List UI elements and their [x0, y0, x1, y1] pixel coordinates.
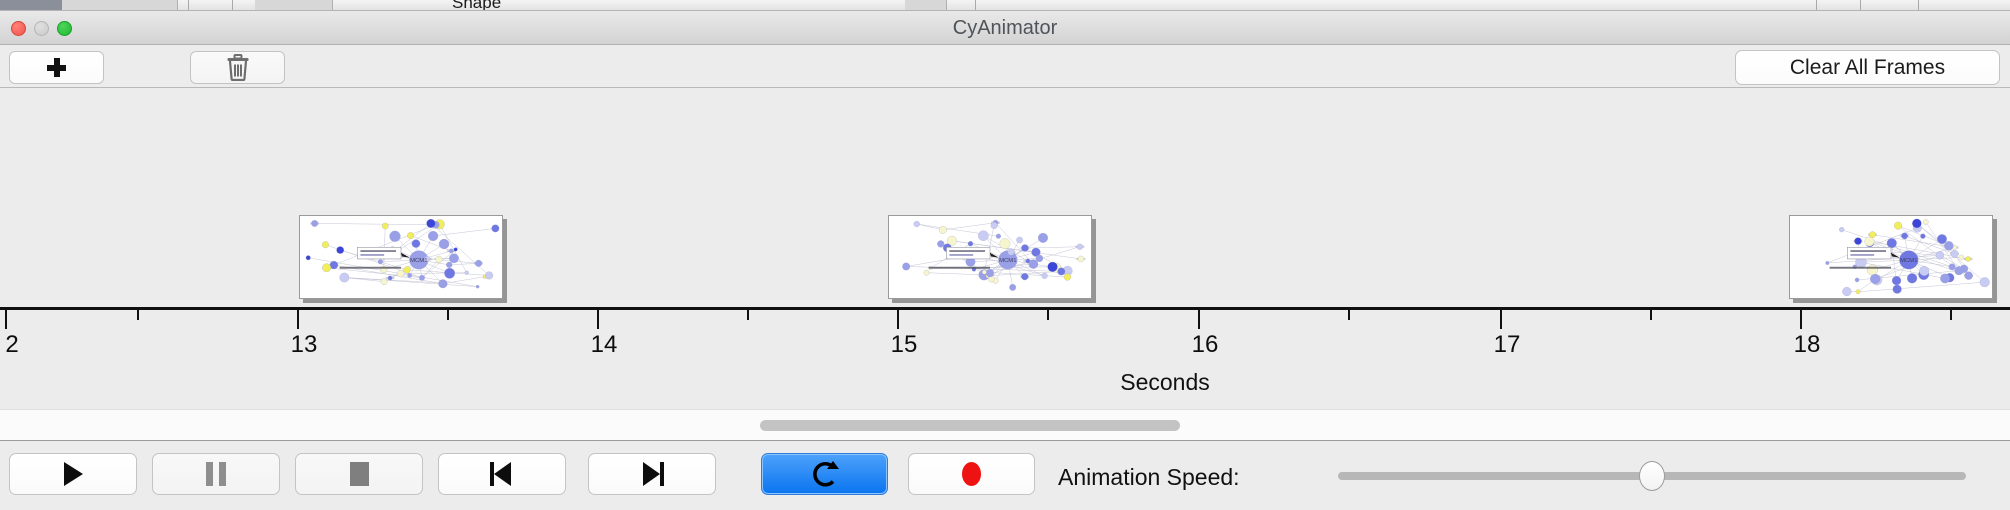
hub-node-label: MCM1: [410, 258, 427, 264]
background-window-tick: [975, 0, 976, 11]
timeline-minor-tick: [1348, 310, 1350, 320]
frame-thumbnail-3[interactable]: MCM1: [1789, 215, 1993, 299]
axis-title-label: Seconds: [1120, 369, 1210, 395]
background-window-chip: [255, 0, 333, 11]
network-graph: MCM1: [1790, 216, 1992, 298]
record-icon: [962, 462, 981, 486]
clear-all-frames-button[interactable]: Clear All Frames: [1735, 50, 2000, 85]
background-window-chip: [905, 0, 947, 11]
timeline-tick-label: 18: [1794, 331, 1821, 359]
pause-button[interactable]: [152, 453, 280, 495]
animation-speed-slider[interactable]: [1338, 472, 1966, 480]
hub-node-label: MCM1: [1900, 258, 1917, 264]
next-frame-button[interactable]: [588, 453, 716, 495]
pause-icon: [206, 462, 226, 486]
playback-control-bar: Animation Speed:: [0, 441, 2010, 510]
background-window-strip: Shape: [0, 0, 2010, 11]
cyanimator-window: Shape CyAnimator: [0, 0, 2010, 510]
timeline-tick-label: 15: [891, 331, 918, 359]
skip-back-icon: [489, 462, 515, 486]
background-window-tick: [188, 0, 189, 11]
timeline-major-tick: [897, 310, 899, 329]
stop-button[interactable]: [295, 453, 423, 495]
plus-icon: [47, 58, 66, 77]
network-graph: MCM1: [889, 216, 1091, 298]
animation-speed-slider-thumb[interactable]: [1639, 461, 1665, 491]
timeline-major-tick: [1500, 310, 1502, 329]
title-bar: CyAnimator: [0, 11, 2010, 45]
timeline-minor-tick: [1950, 310, 1952, 320]
timeline-panel[interactable]: MCM1 MCM1 MCM1 2131415161718 Seconds: [0, 88, 2010, 409]
play-icon: [64, 462, 83, 486]
timeline-major-tick: [1198, 310, 1200, 329]
frame-toolbar: Clear All Frames: [0, 45, 2010, 88]
trash-icon: [226, 54, 250, 81]
window-title: CyAnimator: [0, 11, 2010, 45]
background-window-tick: [232, 0, 233, 11]
timeline-scrollbar-thumb[interactable]: [760, 420, 1180, 431]
hub-node-label: MCM1: [999, 258, 1016, 264]
skip-forward-icon: [639, 462, 665, 486]
timeline-minor-tick: [1650, 310, 1652, 320]
add-frame-button[interactable]: [9, 51, 104, 84]
record-button[interactable]: [908, 453, 1035, 495]
background-window-tick: [1860, 0, 1861, 11]
axis-title: Seconds: [0, 369, 2010, 396]
previous-frame-button[interactable]: [438, 453, 566, 495]
loop-button[interactable]: [761, 453, 888, 495]
timeline-minor-tick: [447, 310, 449, 320]
timeline-minor-tick: [137, 310, 139, 320]
timeline-major-tick: [5, 310, 7, 329]
background-window-dark-chip: [0, 0, 62, 11]
timeline-minor-tick: [747, 310, 749, 320]
timeline-tick-label: 2: [5, 331, 18, 359]
delete-frame-button[interactable]: [190, 51, 285, 84]
timeline-tick-label: 17: [1494, 331, 1521, 359]
frame-thumbnail-1[interactable]: MCM1: [299, 215, 503, 299]
timeline-major-tick: [597, 310, 599, 329]
background-window-title: Shape: [452, 0, 501, 11]
timeline-tick-label: 13: [291, 331, 318, 359]
network-graph: MCM1: [300, 216, 502, 298]
timeline-tick-label: 16: [1192, 331, 1219, 359]
background-window-tick: [1816, 0, 1817, 11]
background-window-chip: [62, 0, 178, 11]
play-button[interactable]: [9, 453, 137, 495]
animation-speed-label: Animation Speed:: [1058, 464, 1240, 491]
timeline-tick-label: 14: [591, 331, 618, 359]
loop-icon: [810, 458, 840, 490]
stop-icon: [350, 462, 369, 486]
timeline-major-tick: [297, 310, 299, 329]
timeline-minor-tick: [1047, 310, 1049, 320]
background-window-tick: [1918, 0, 1919, 11]
timeline-axis: [0, 307, 2010, 310]
frame-thumbnail-2[interactable]: MCM1: [888, 215, 1092, 299]
timeline-major-tick: [1800, 310, 1802, 329]
clear-all-frames-label: Clear All Frames: [1790, 56, 1945, 80]
timeline-scrollbar[interactable]: [0, 409, 2010, 441]
